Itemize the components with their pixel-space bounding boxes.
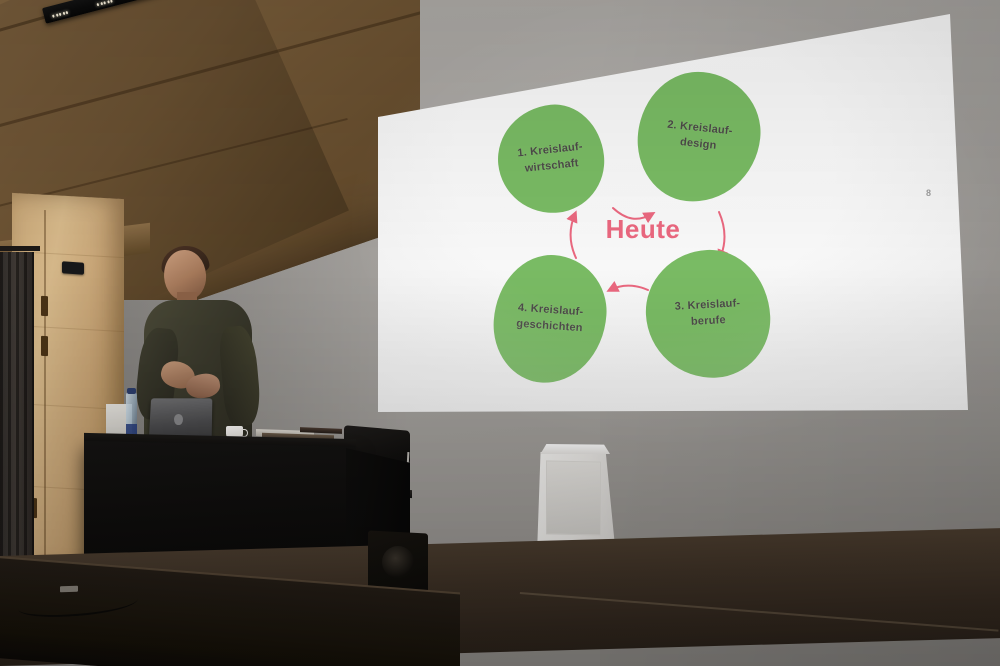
door-hinge-upper — [41, 296, 48, 316]
door-hinge-middle — [41, 336, 48, 356]
apple-logo-icon — [174, 414, 183, 425]
subwoofer-cone — [382, 546, 414, 578]
loudspeaker-top — [536, 444, 610, 454]
wall-speaker-icon — [62, 261, 84, 275]
curtain-rod — [0, 246, 40, 251]
presentation-room-photo: 1. Kreislauf- wirtschaft 2. Kreislauf- d… — [0, 0, 1000, 666]
blackout-curtain — [0, 252, 34, 592]
led-group — [52, 11, 68, 19]
loudspeaker-grille — [546, 460, 601, 535]
bottle-cap — [127, 388, 136, 394]
door-edge-line — [44, 210, 46, 570]
led-group — [97, 0, 113, 7]
